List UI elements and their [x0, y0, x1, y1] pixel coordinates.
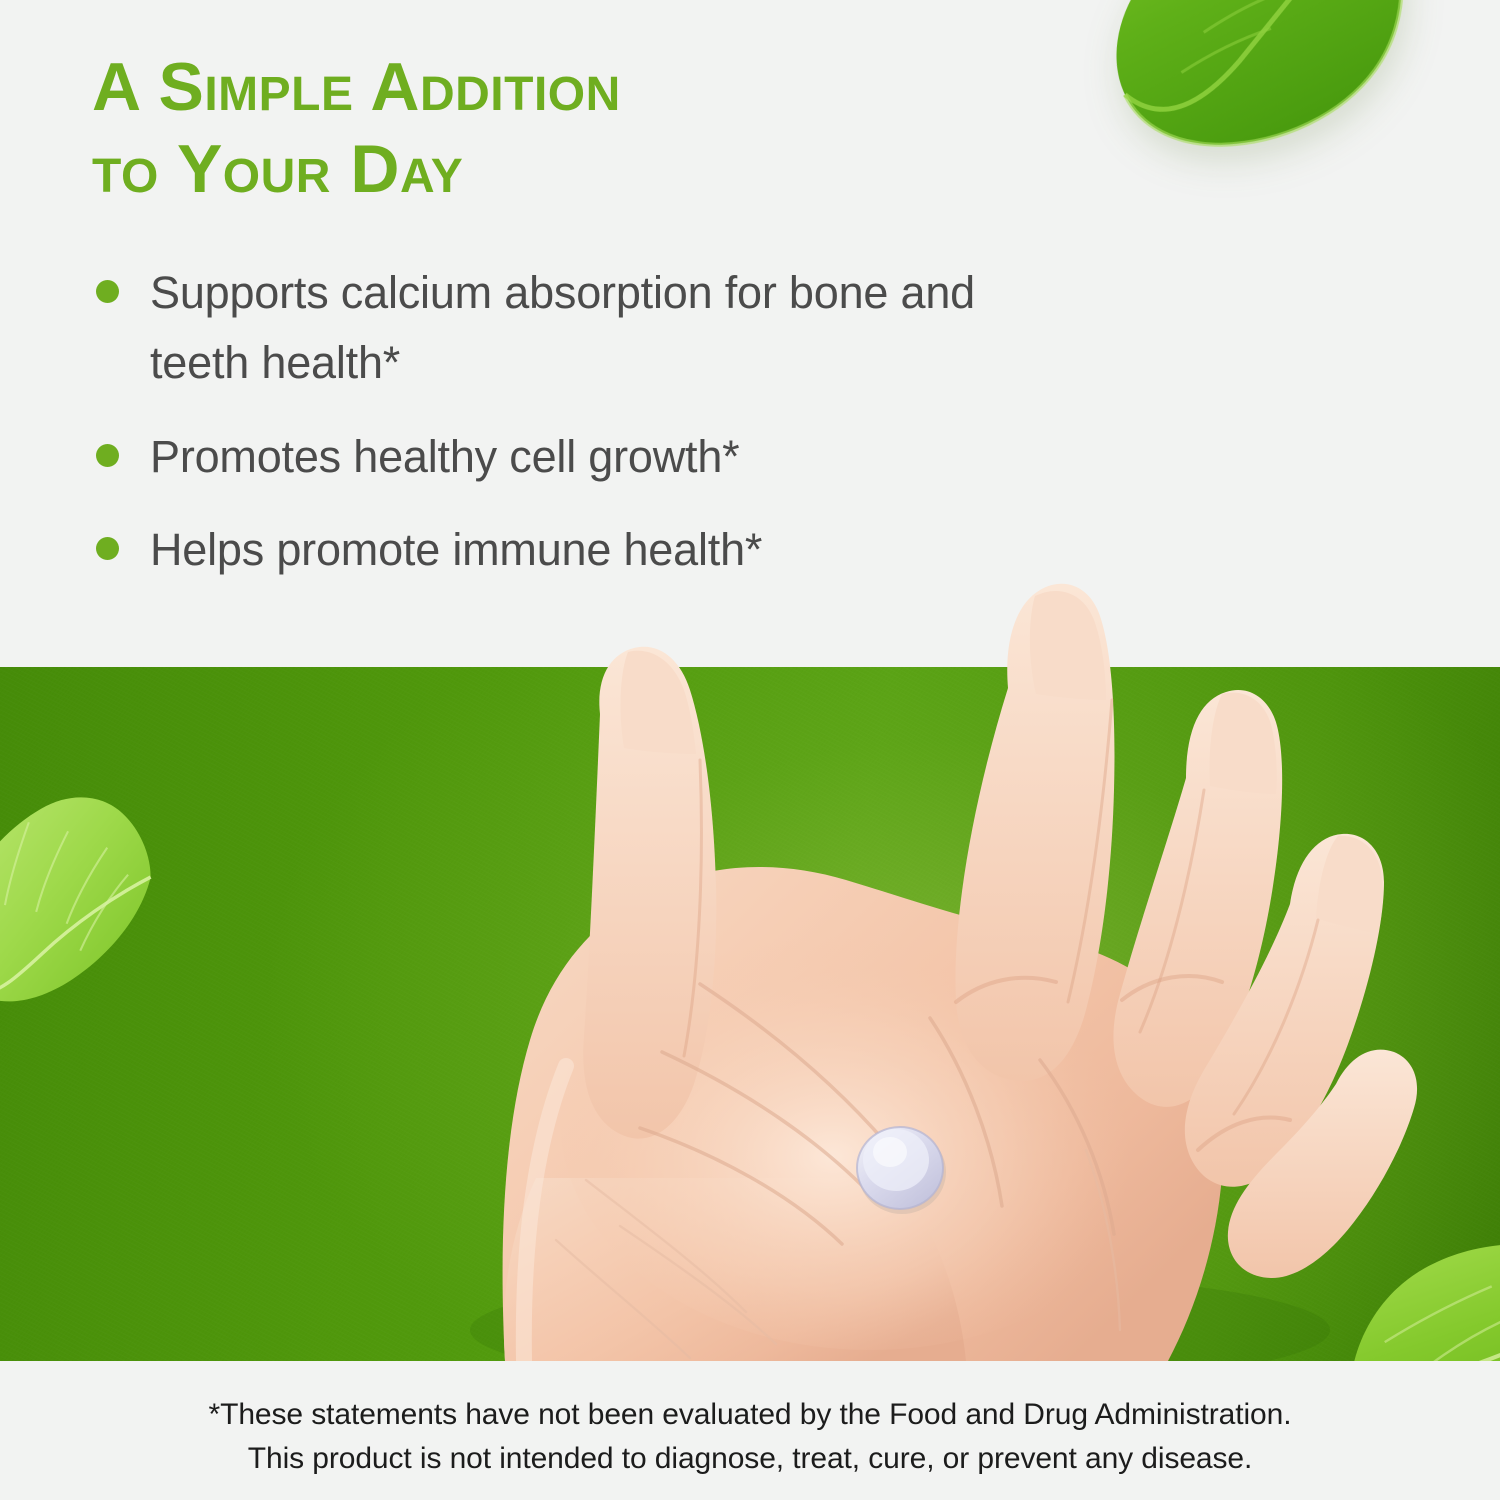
mint-leaf-icon	[1084, 0, 1457, 221]
list-item: Promotes healthy cell growth*	[92, 422, 1012, 492]
page-title-line-2: to Your Day	[92, 128, 992, 210]
headline-panel: A Simple Addition to Your Day Supports c…	[0, 0, 1500, 667]
bullet-dot-icon	[96, 280, 119, 303]
product-infographic: A Simple Addition to Your Day Supports c…	[0, 0, 1500, 1500]
disclaimer-text: *These statements have not been evaluate…	[0, 1393, 1500, 1481]
disclaimer-line-1: *These statements have not been evaluate…	[0, 1393, 1500, 1437]
bullet-dot-icon	[96, 537, 119, 560]
paper-texture-overlay	[0, 667, 1500, 1361]
page-title-line-1: A Simple Addition	[92, 46, 992, 128]
benefit-text: Helps promote immune health*	[150, 524, 762, 575]
disclaimer-line-2: This product is not intended to diagnose…	[0, 1437, 1500, 1481]
benefit-text: Promotes healthy cell growth*	[150, 431, 739, 482]
list-item: Supports calcium absorption for bone and…	[92, 258, 1012, 398]
disclaimer-panel: *These statements have not been evaluate…	[0, 1361, 1500, 1500]
benefits-list: Supports calcium absorption for bone and…	[92, 258, 1012, 609]
page-title: A Simple Addition to Your Day	[92, 46, 992, 211]
product-photo-panel	[0, 667, 1500, 1361]
bullet-dot-icon	[96, 444, 119, 467]
benefit-text: Supports calcium absorption for bone and…	[150, 267, 975, 388]
list-item: Helps promote immune health*	[92, 515, 1012, 585]
